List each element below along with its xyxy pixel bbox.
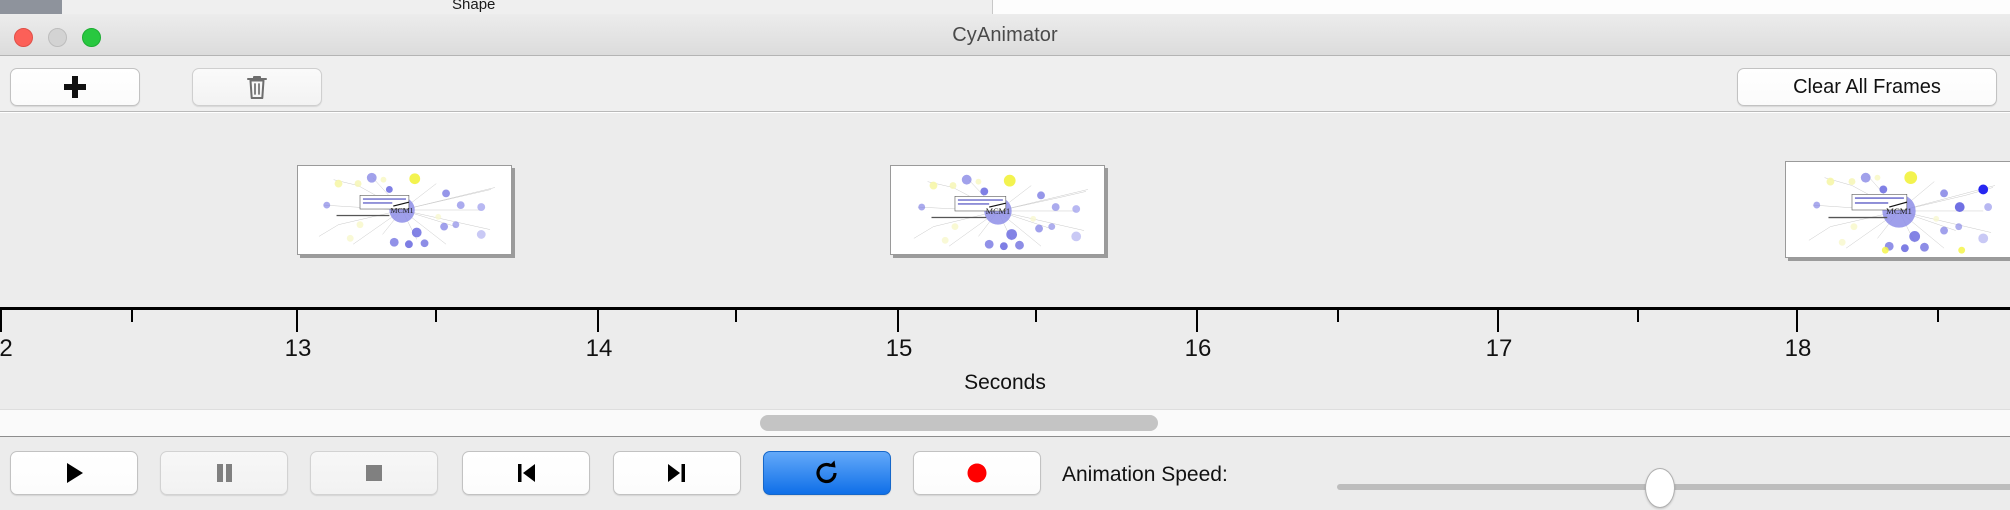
- axis-tick-major: [296, 310, 298, 332]
- pause-button[interactable]: [160, 451, 288, 495]
- svg-text:MCM1: MCM1: [986, 207, 1010, 216]
- add-frame-button[interactable]: [10, 68, 140, 106]
- svg-text:MCM1: MCM1: [1886, 206, 1912, 216]
- axis-tick-minor: [1937, 310, 1939, 322]
- stop-icon: [362, 461, 386, 485]
- skip-previous-icon: [513, 460, 539, 486]
- axis-tick-major: [597, 310, 599, 332]
- axis-tick-label: 2: [0, 335, 13, 363]
- timeline-axis-line: [0, 307, 2010, 310]
- play-icon: [61, 460, 87, 486]
- stop-button[interactable]: [310, 451, 438, 495]
- axis-tick-major: [1196, 310, 1198, 332]
- loop-button[interactable]: [763, 451, 891, 495]
- axis-title-seconds: Seconds: [0, 371, 2010, 395]
- axis-tick-label: 16: [1185, 335, 1212, 363]
- axis-tick-minor: [131, 310, 133, 322]
- title-bar: CyAnimator: [0, 14, 2010, 56]
- background-window-strip: Shape: [0, 0, 2010, 15]
- delete-frame-button[interactable]: [192, 68, 322, 106]
- timeline-scrollbar[interactable]: [0, 409, 2010, 437]
- background-chip: [232, 0, 293, 14]
- background-shape-label: Shape: [452, 0, 495, 13]
- animation-speed-slider-thumb[interactable]: [1645, 468, 1675, 508]
- timeline-frame-thumbnail[interactable]: MCM1: [890, 165, 1105, 255]
- window-title: CyAnimator: [0, 24, 2010, 47]
- play-button[interactable]: [10, 451, 138, 495]
- axis-tick-minor: [735, 310, 737, 322]
- axis-tick-minor: [1637, 310, 1639, 322]
- axis-tick-minor: [435, 310, 437, 322]
- timeline-panel[interactable]: MCM1: [0, 113, 2010, 409]
- axis-tick-label: 18: [1785, 335, 1812, 363]
- playback-control-bar: Animation Speed:: [0, 437, 2010, 510]
- background-chip: [292, 0, 393, 14]
- scrollbar-thumb[interactable]: [760, 415, 1158, 431]
- axis-tick-minor: [1337, 310, 1339, 322]
- clear-all-frames-button[interactable]: Clear All Frames: [1737, 68, 1997, 106]
- trash-icon: [245, 74, 269, 100]
- axis-tick-major: [0, 310, 2, 332]
- axis-tick-label: 14: [586, 335, 613, 363]
- axis-tick-minor: [1035, 310, 1037, 322]
- loop-icon: [813, 459, 841, 487]
- axis-tick-major: [1497, 310, 1499, 332]
- axis-tick-major: [1796, 310, 1798, 332]
- animation-speed-label: Animation Speed:: [1062, 463, 1228, 487]
- network-graph-thumbnail: MCM1: [891, 166, 1104, 254]
- axis-tick-label: 13: [285, 335, 312, 363]
- skip-next-icon: [664, 460, 690, 486]
- network-graph-thumbnail: MCM1: [298, 166, 511, 254]
- clear-all-frames-label: Clear All Frames: [1793, 76, 1941, 99]
- skip-previous-button[interactable]: [462, 451, 590, 495]
- timeline-frame-thumbnail[interactable]: MCM1: [1785, 161, 2010, 258]
- background-chip: [62, 0, 173, 14]
- pause-icon: [212, 461, 236, 485]
- axis-tick-label: 17: [1486, 335, 1513, 363]
- plus-icon: [64, 76, 86, 98]
- background-chip: [172, 0, 233, 14]
- record-button[interactable]: [913, 451, 1041, 495]
- skip-next-button[interactable]: [613, 451, 741, 495]
- toolbar: Clear All Frames: [0, 56, 2010, 112]
- axis-tick-label: 15: [886, 335, 913, 363]
- record-icon: [965, 461, 989, 485]
- cyanimator-window: Shape CyAnimator Clear All Frames: [0, 0, 2010, 510]
- axis-tick-major: [897, 310, 899, 332]
- network-graph-thumbnail: MCM1: [1786, 162, 2010, 257]
- background-dark-chip: [0, 0, 62, 14]
- svg-text:MCM1: MCM1: [391, 206, 414, 215]
- timeline-frame-thumbnail[interactable]: MCM1: [297, 165, 512, 255]
